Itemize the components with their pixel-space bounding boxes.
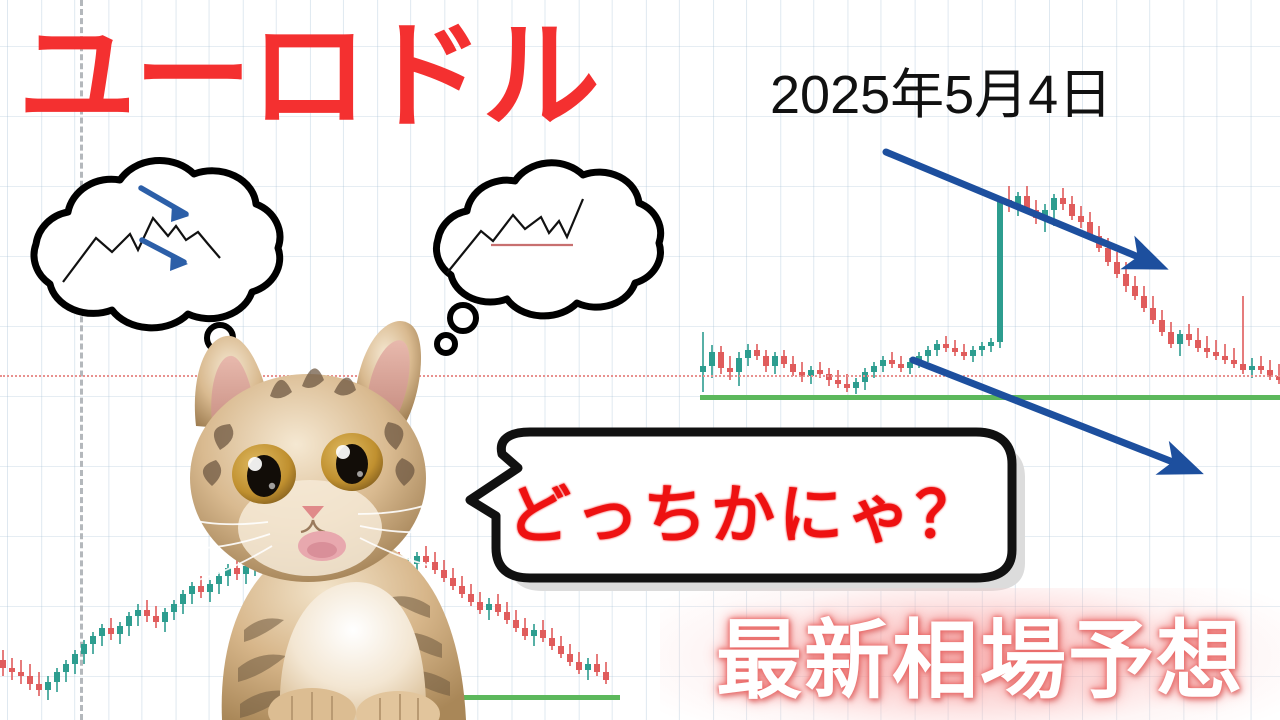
page-title: ユーロドル	[18, 18, 598, 136]
banner-title: 最新相場予想	[690, 596, 1270, 708]
cat-eye-right	[321, 433, 383, 491]
thumbnail-canvas: ユーロドル 2025年5月4日	[0, 0, 1280, 720]
date-label: 2025年5月4日	[770, 50, 1112, 129]
speech-bubble-text: どっちかにゃ？	[530, 470, 960, 550]
cat-eye-left	[232, 444, 296, 504]
support-line-right	[700, 395, 1280, 400]
